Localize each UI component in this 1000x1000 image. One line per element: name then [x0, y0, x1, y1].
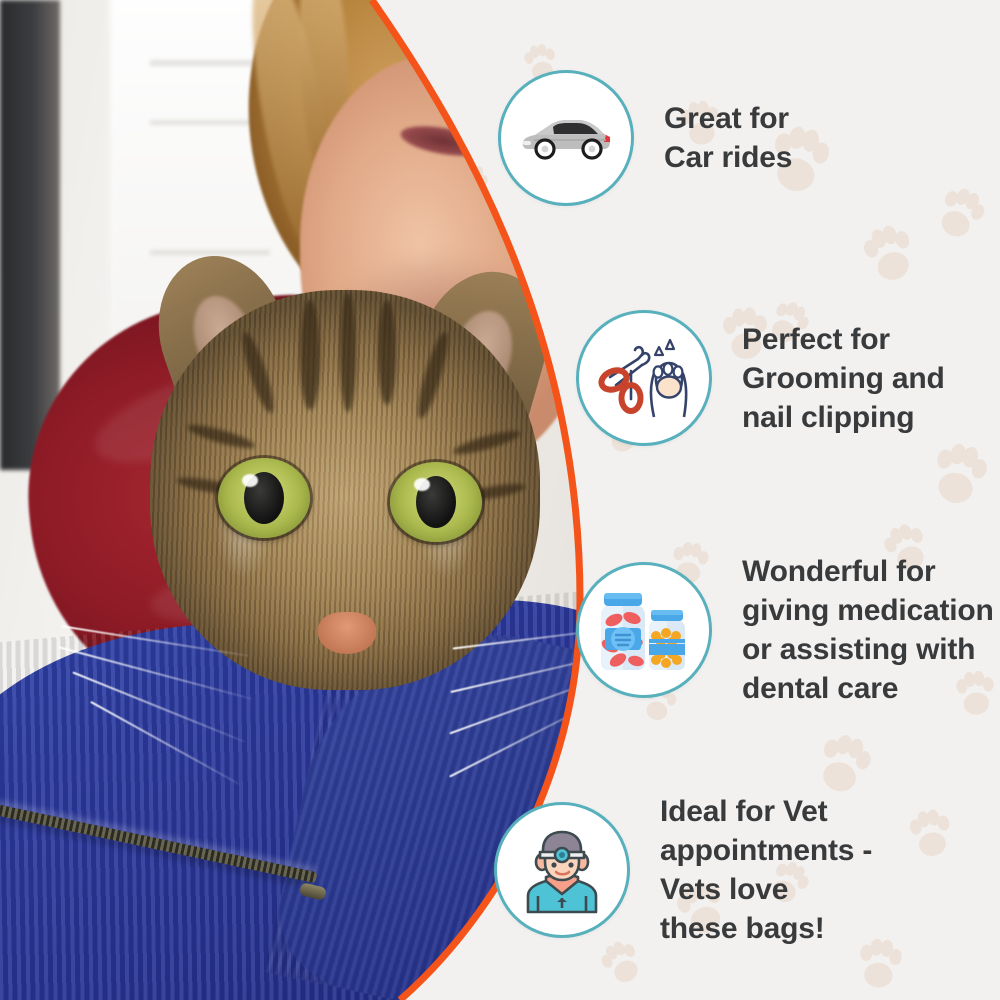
feature-label: Perfect for Grooming and nail clipping	[742, 320, 945, 437]
feature-icon-circle	[494, 802, 630, 938]
feature-item-medication[interactable]: Wonderful for giving medication or assis…	[576, 552, 994, 708]
feature-icon-circle	[498, 70, 634, 206]
veterinarian-icon	[516, 824, 608, 916]
feature-label: Wonderful for giving medication or assis…	[742, 552, 994, 708]
product-infographic: Great for Car rides	[0, 0, 1000, 1000]
feature-label: Ideal for Vet appointments - Vets love t…	[660, 792, 872, 948]
car-icon	[520, 113, 612, 163]
pill-bottles-icon	[596, 584, 692, 676]
feature-item-car-rides[interactable]: Great for Car rides	[498, 70, 792, 206]
feature-item-grooming[interactable]: Perfect for Grooming and nail clipping	[576, 310, 945, 446]
feature-icon-circle	[576, 562, 712, 698]
feature-icon-circle	[576, 310, 712, 446]
nail-clipper-paw-icon	[598, 335, 690, 421]
feature-label: Great for Car rides	[664, 99, 792, 177]
feature-item-vet[interactable]: Ideal for Vet appointments - Vets love t…	[494, 792, 872, 948]
feature-list: Great for Car rides	[0, 0, 1000, 1000]
